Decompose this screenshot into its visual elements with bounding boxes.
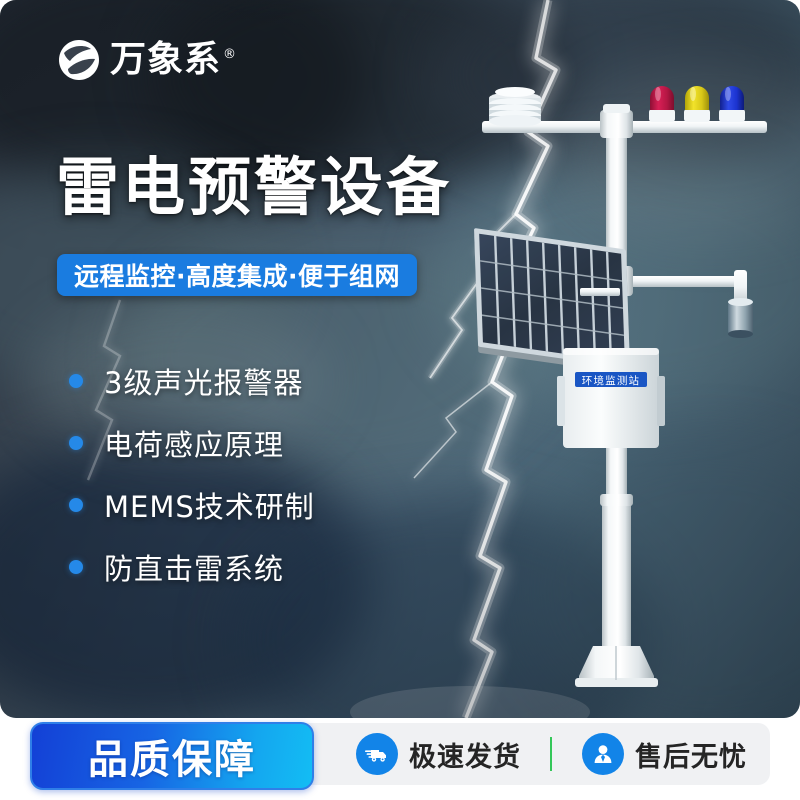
subtitle-text: 远程监控·高度集成·便于组网	[74, 257, 400, 293]
list-item: MEMS技术研制	[69, 474, 315, 536]
radiation-shield-sensor	[489, 87, 541, 127]
blue-dot-icon	[69, 498, 83, 512]
side-arm-sensor	[728, 298, 753, 338]
station-label-text: 环境监测站	[582, 374, 641, 387]
mounting-pole-lower	[602, 498, 631, 658]
quality-badge: 品质保障	[30, 722, 314, 790]
feature-label: MEMS技术研制	[104, 484, 315, 526]
customer-service-icon	[582, 733, 624, 775]
page-title: 雷电预警设备	[56, 155, 486, 221]
side-arm	[626, 276, 746, 287]
bar-divider	[550, 737, 552, 771]
service-label: 售后无忧	[635, 735, 747, 774]
brand-name: 万象系®	[110, 42, 237, 78]
service-item: 售后无忧	[582, 733, 747, 775]
crossbar-clamp	[600, 110, 633, 138]
brand-logo: 万象系®	[57, 38, 237, 82]
feature-label: 防直击雷系统	[104, 546, 284, 588]
shipping-item: 极速发货	[356, 733, 521, 775]
pole-collar	[600, 494, 633, 506]
blue-dot-icon	[69, 436, 83, 450]
trust-bar: 品质保障 极速发货	[30, 723, 770, 785]
list-item: 电荷感应原理	[69, 412, 315, 474]
brand-name-text: 万象系	[110, 39, 221, 80]
list-item: 3级声光报警器	[69, 350, 315, 412]
red-beacon	[649, 86, 675, 122]
control-box: 环境监测站	[557, 348, 665, 448]
delivery-truck-icon	[356, 733, 398, 775]
list-item: 防直击雷系统	[69, 536, 315, 598]
shipping-label: 极速发货	[409, 735, 521, 774]
subtitle-badge: 远程监控·高度集成·便于组网	[57, 254, 417, 296]
feature-list: 3级声光报警器 电荷感应原理 MEMS技术研制 防直击雷系统	[69, 350, 315, 598]
trademark-symbol: ®	[223, 47, 237, 62]
panel-bracket	[580, 288, 620, 296]
quality-badge-text: 品质保障	[88, 727, 256, 785]
promo-poster: 环境监测站 万象系® 雷电预警设备 远程监控·高度集成·便于组网 3级声光报警器	[0, 0, 800, 800]
blue-dot-icon	[69, 560, 83, 574]
yellow-beacon	[684, 86, 710, 122]
feature-label: 电荷感应原理	[104, 422, 284, 464]
blue-beacon	[719, 86, 745, 122]
swirl-leaf-mark-icon	[57, 38, 101, 82]
feature-label: 3级声光报警器	[104, 360, 303, 402]
blue-dot-icon	[69, 374, 83, 388]
alarm-beacons	[649, 86, 745, 122]
